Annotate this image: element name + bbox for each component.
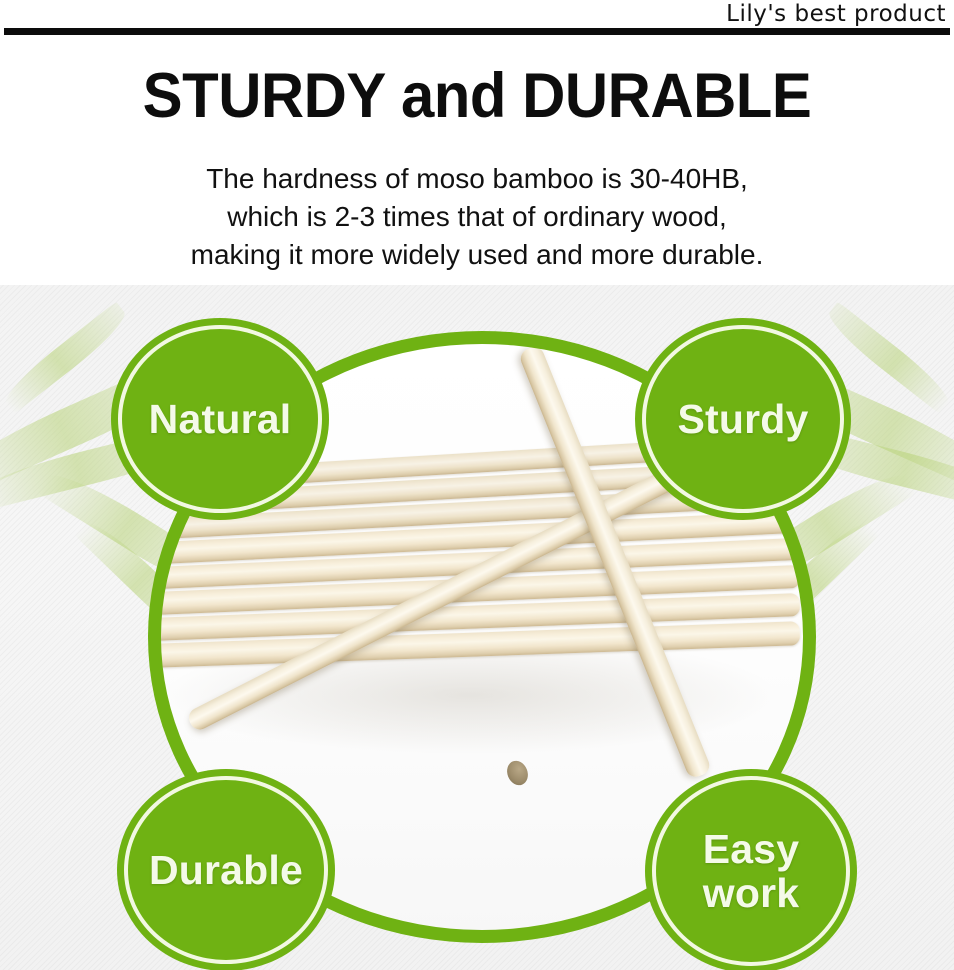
brand-bar: Lily's best product [0,0,954,36]
product-infographic: Lily's best product STURDY and DURABLE T… [0,0,954,970]
feature-badge-easy-work[interactable]: Easy work [652,776,850,966]
badge-label: Sturdy [673,397,812,441]
badge-label: Natural [145,397,296,441]
description-line-2: which is 2-3 times that of ordinary wood… [0,198,954,236]
description-line-1: The hardness of moso bamboo is 30-40HB, [0,160,954,198]
feature-badge-natural[interactable]: Natural [118,325,322,513]
feature-badge-sturdy[interactable]: Sturdy [642,325,844,513]
badge-label-line-1: Easy [703,826,800,872]
feature-badge-durable[interactable]: Durable [124,776,328,964]
brand-name: Lily's best product [726,1,946,27]
bamboo-leaf-watermark [822,302,954,415]
badge-label-line-2: work [703,871,800,915]
description-line-3: making it more widely used and more dura… [0,236,954,274]
header-divider-rule [4,28,950,35]
bamboo-leaf-watermark [0,302,132,415]
badge-label: Durable [145,848,307,892]
badge-label: Easy work [699,827,804,915]
description-text: The hardness of moso bamboo is 30-40HB, … [0,160,954,274]
bamboo-dowel-end-cap [504,758,532,789]
page-title: STURDY and DURABLE [24,62,930,130]
